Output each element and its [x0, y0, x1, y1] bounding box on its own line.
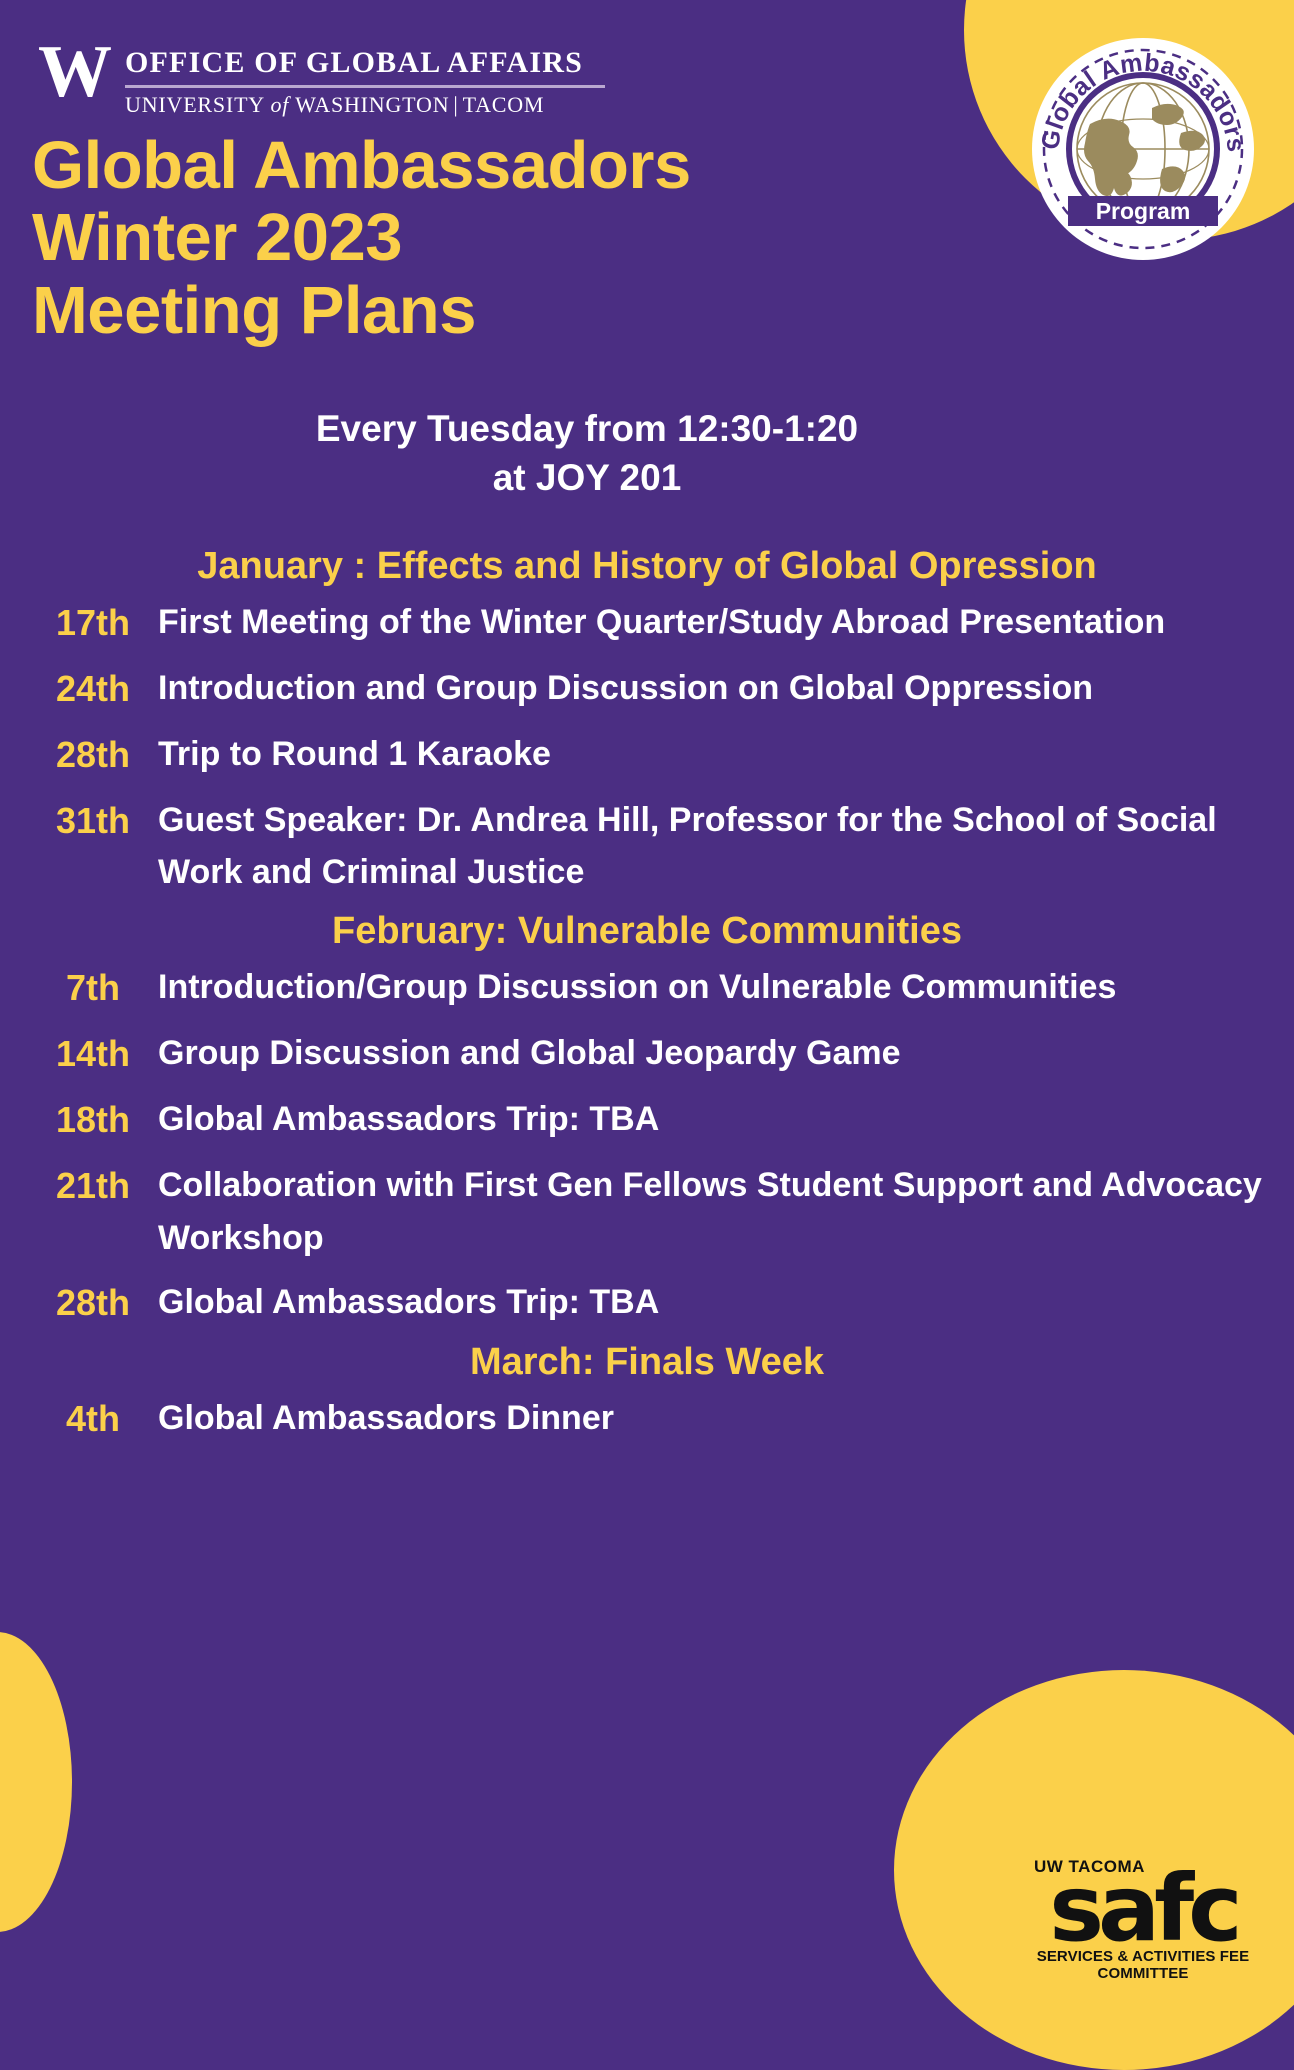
global-ambassadors-program-badge: Global Ambassadors Program	[1032, 38, 1254, 260]
schedule-day: 31th	[34, 794, 152, 848]
uw-logo-text: OFFICE OF GLOBAL AFFAIRS UNIVERSITY of W…	[125, 36, 605, 118]
schedule-day: 28th	[34, 1276, 152, 1330]
schedule-description: Guest Speaker: Dr. Andrea Hill, Professo…	[152, 794, 1270, 899]
uw-logo-line1: OFFICE OF GLOBAL AFFAIRS	[125, 46, 605, 80]
schedule-row: 7th Introduction/Group Discussion on Vul…	[0, 955, 1294, 1021]
schedule-row: 4th Global Ambassadors Dinner	[0, 1386, 1294, 1452]
schedule-row: 18th Global Ambassadors Trip: TBA	[0, 1087, 1294, 1153]
uw-logo-divider	[125, 85, 605, 88]
schedule-description: Trip to Round 1 Karaoke	[152, 728, 1270, 781]
uw-logo-washington: WASHINGTON	[295, 92, 449, 117]
schedule-description: Collaboration with First Gen Fellows Stu…	[152, 1159, 1270, 1264]
schedule-description: Global Ambassadors Trip: TBA	[152, 1093, 1270, 1146]
badge-banner-label: Program	[1096, 198, 1191, 224]
uw-logo-line2: UNIVERSITY of WASHINGTON|TACOM	[125, 92, 605, 118]
subtitle-line-1: Every Tuesday from 12:30-1:20	[0, 405, 1174, 454]
uw-logo-separator: |	[449, 92, 462, 117]
schedule-day: 28th	[34, 728, 152, 782]
month-heading-february: February: Vulnerable Communities	[0, 905, 1294, 955]
schedule-description: Global Ambassadors Dinner	[152, 1392, 1270, 1445]
schedule-description: Group Discussion and Global Jeopardy Gam…	[152, 1027, 1270, 1080]
schedule-day: 21th	[34, 1159, 152, 1213]
uw-w-icon: W	[38, 38, 109, 106]
page-title: Global Ambassadors Winter 2023 Meeting P…	[32, 130, 691, 347]
schedule-row: 28th Global Ambassadors Trip: TBA	[0, 1270, 1294, 1336]
schedule-day: 17th	[34, 596, 152, 650]
uw-logo-of: of	[271, 92, 290, 117]
title-line-3: Meeting Plans	[32, 275, 691, 347]
globe-icon	[1077, 83, 1209, 215]
month-heading-january: January : Effects and History of Global …	[0, 540, 1294, 590]
schedule-row: 28th Trip to Round 1 Karaoke	[0, 722, 1294, 788]
safc-logo: UW TACOMA safc SERVICES & ACTIVITIES FEE…	[1018, 1857, 1268, 1982]
decorative-blob-left	[0, 1632, 72, 1932]
uw-logo-campus: TACOM	[463, 92, 545, 117]
subtitle-line-2: at JOY 201	[0, 454, 1174, 503]
uw-logo-university: UNIVERSITY	[125, 92, 264, 117]
schedule-row: 31th Guest Speaker: Dr. Andrea Hill, Pro…	[0, 788, 1294, 905]
uw-logo-lockup: W OFFICE OF GLOBAL AFFAIRS UNIVERSITY of…	[38, 36, 605, 118]
schedule-day: 24th	[34, 662, 152, 716]
schedule-description: First Meeting of the Winter Quarter/Stud…	[152, 596, 1270, 649]
schedule-row: 17th First Meeting of the Winter Quarter…	[0, 590, 1294, 656]
title-line-1: Global Ambassadors	[32, 130, 691, 202]
month-heading-march: March: Finals Week	[0, 1336, 1294, 1386]
schedule-description: Global Ambassadors Trip: TBA	[152, 1276, 1270, 1329]
schedule-row: 21th Collaboration with First Gen Fellow…	[0, 1153, 1294, 1270]
schedule-day: 14th	[34, 1027, 152, 1081]
schedule-day: 18th	[34, 1093, 152, 1147]
schedule-list: January : Effects and History of Global …	[0, 540, 1294, 1452]
schedule-row: 14th Group Discussion and Global Jeopard…	[0, 1021, 1294, 1087]
schedule-description: Introduction/Group Discussion on Vulnera…	[152, 961, 1270, 1014]
title-line-2: Winter 2023	[32, 202, 691, 274]
schedule-description: Introduction and Group Discussion on Glo…	[152, 662, 1270, 715]
schedule-row: 24th Introduction and Group Discussion o…	[0, 656, 1294, 722]
safc-logo-bottom-label: SERVICES & ACTIVITIES FEE COMMITTEE	[1018, 1948, 1268, 1982]
safc-wordmark: safc	[1018, 1865, 1268, 1952]
meeting-time-subtitle: Every Tuesday from 12:30-1:20 at JOY 201	[0, 405, 1174, 503]
schedule-day: 7th	[34, 961, 152, 1015]
schedule-day: 4th	[34, 1392, 152, 1446]
